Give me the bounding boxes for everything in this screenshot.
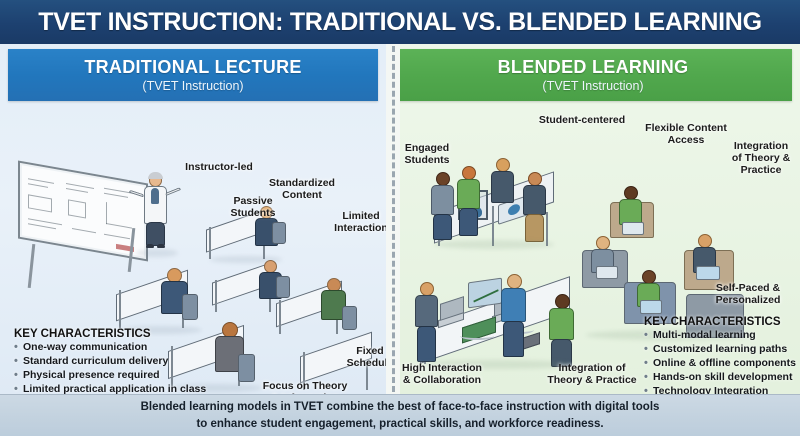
key-characteristics-title: KEY CHARACTERISTICS xyxy=(14,328,228,340)
label-instructor-led: Instructor-led xyxy=(178,161,260,173)
footer-summary-bar: Blended learning models in TVET combine … xyxy=(0,394,800,436)
student-figure-icon xyxy=(456,166,482,240)
list-item: One-way communication xyxy=(14,341,228,355)
panel-traditional-lecture: TRADITIONAL LECTURE (TVET Instruction) I… xyxy=(0,44,386,394)
student-figure-icon xyxy=(414,282,440,366)
infographic-root: TVET INSTRUCTION: TRADITIONAL VS. BLENDE… xyxy=(0,0,800,436)
tablet-icon xyxy=(622,222,644,235)
monitor-icon xyxy=(468,278,502,309)
student-figure-icon xyxy=(522,172,548,246)
whiteboard-icon xyxy=(18,161,148,262)
student-desk-icon xyxy=(206,219,268,259)
blended-key-characteristics: KEY CHARACTERISTICS Multi-modal learning… xyxy=(644,316,796,394)
student-figure-icon xyxy=(548,294,576,370)
student-figure-icon xyxy=(258,260,284,312)
traditional-panel-header: TRADITIONAL LECTURE (TVET Instruction) xyxy=(8,49,378,101)
label-limited-interaction: Limited Interaction xyxy=(330,210,386,234)
student-desk-icon xyxy=(212,272,274,312)
student-figure-icon xyxy=(160,268,190,330)
label-integration-theory-practice-top: Integration of Theory & Practice xyxy=(728,140,794,176)
label-integration-theory-practice-bottom: Integration of Theory & Practice xyxy=(544,362,640,386)
traditional-heading: TRADITIONAL LECTURE xyxy=(84,57,301,78)
page-title-bar: TVET INSTRUCTION: TRADITIONAL VS. BLENDE… xyxy=(0,0,800,44)
circuit-board-icon xyxy=(462,316,496,343)
list-item: Limited practical application in class xyxy=(14,383,228,394)
tablet-icon xyxy=(640,300,662,314)
list-item: Standard curriculum delivery xyxy=(14,355,228,369)
list-item: Online & offline components xyxy=(644,357,796,371)
laptop-icon xyxy=(492,308,518,324)
label-self-paced-personalized: Self-Paced & Personalized xyxy=(706,282,790,306)
traditional-key-characteristics: KEY CHARACTERISTICS One-way communicatio… xyxy=(14,328,228,394)
key-characteristics-list: One-way communication Standard curriculu… xyxy=(14,341,228,394)
list-item: Customized learning paths xyxy=(644,343,796,357)
instructor-figure-icon xyxy=(140,174,172,252)
label-student-centered: Student-centered xyxy=(534,114,630,126)
panel-blended-learning: BLENDED LEARNING (TVET Instruction) Enga… xyxy=(386,44,800,394)
student-figure-icon xyxy=(430,172,456,242)
page-title: TVET INSTRUCTION: TRADITIONAL VS. BLENDE… xyxy=(38,8,761,37)
list-item: Multi-modal learning xyxy=(644,329,796,343)
list-item: Physical presence required xyxy=(14,369,228,383)
tablet-icon xyxy=(498,195,528,225)
student-figure-icon xyxy=(500,274,528,360)
tablet-icon xyxy=(596,266,618,279)
3d-printer-icon xyxy=(458,190,488,220)
key-characteristics-title: KEY CHARACTERISTICS xyxy=(644,316,796,328)
label-engaged-students: Engaged Students xyxy=(396,142,458,166)
whiteboard-stand-icon xyxy=(26,244,138,290)
label-focus-on-theory: Focus on Theory & Information Transmissi… xyxy=(258,380,352,394)
armchair-icon xyxy=(582,250,628,288)
student-figure-icon xyxy=(320,278,348,334)
student-desk-icon xyxy=(276,292,342,334)
label-fixed-schedule: Fixed Schedule xyxy=(342,345,386,369)
circuit-board-icon xyxy=(516,332,540,352)
student-figure-icon xyxy=(590,236,616,278)
label-flexible-content-access: Flexible Content Access xyxy=(644,122,728,146)
list-item: Hands-on skill development xyxy=(644,371,796,385)
student-figure-icon xyxy=(636,270,662,312)
traditional-subheading: (TVET Instruction) xyxy=(142,79,243,93)
label-standardized-content: Standardized Content xyxy=(262,177,342,201)
comparison-panels: TRADITIONAL LECTURE (TVET Instruction) I… xyxy=(0,44,800,394)
blended-subheading: (TVET Instruction) xyxy=(542,79,643,93)
key-characteristics-list: Multi-modal learning Customized learning… xyxy=(644,329,796,394)
list-item: Technology Integration xyxy=(644,385,796,394)
group-worktable-icon xyxy=(434,192,554,246)
laptop-icon xyxy=(438,312,464,328)
footer-line-1: Blended learning models in TVET combine … xyxy=(141,399,660,416)
dashed-divider-icon xyxy=(386,44,400,394)
electronics-workbench-icon xyxy=(420,302,570,364)
armchair-icon xyxy=(610,202,654,238)
student-figure-icon xyxy=(618,186,644,230)
student-figure-icon xyxy=(692,234,718,278)
tablet-icon xyxy=(696,266,720,280)
blended-heading: BLENDED LEARNING xyxy=(498,57,689,78)
student-figure-icon xyxy=(490,158,516,220)
label-high-interaction-collaboration: High Interaction & Collaboration xyxy=(394,362,490,386)
footer-line-2: to enhance student engagement, practical… xyxy=(196,416,603,433)
student-desk-icon xyxy=(116,282,188,328)
blended-panel-header: BLENDED LEARNING (TVET Instruction) xyxy=(394,49,792,101)
